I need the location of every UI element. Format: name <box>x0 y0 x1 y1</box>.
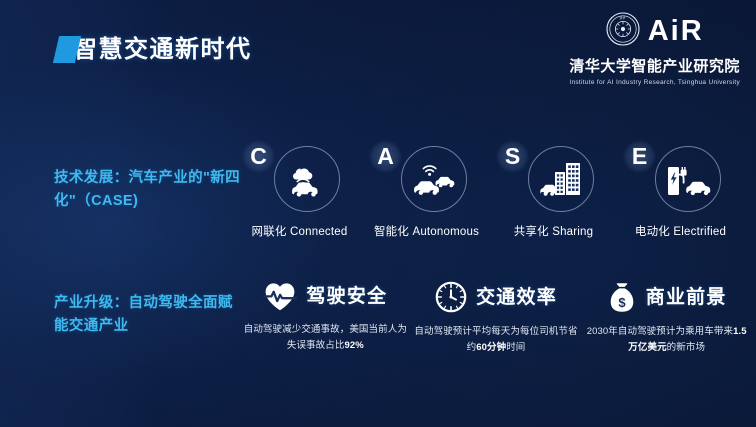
svg-text:$: $ <box>618 295 626 310</box>
clock-icon <box>435 281 467 313</box>
air-logo: 清华 AiR 清华大学智能产业研究院 Institute for AI Indu… <box>569 12 740 86</box>
case-items-row: C 网联化 Connected A <box>236 140 746 239</box>
case-caption: 智能化 Autonomous <box>374 223 479 239</box>
case-item-sharing[interactable]: S <box>490 140 617 239</box>
case-item-autonomous[interactable]: A 智能化 Autonomou <box>363 140 490 239</box>
desc-highlight: 92% <box>344 340 363 351</box>
case-caption: 网联化 Connected <box>252 223 348 239</box>
car-buildings-icon <box>528 146 594 212</box>
logo-wordmark: AiR <box>648 17 704 46</box>
ev-charging-car-icon <box>655 146 721 212</box>
case-letter-badge: E <box>623 140 656 173</box>
desc-before: 自动驾驶减少交通事故，美国当前人为失误事故占比 <box>244 324 407 351</box>
benefit-item-safety[interactable]: 驾驶安全 自动驾驶减少交通事故，美国当前人为失误事故占比92% <box>240 281 411 357</box>
desc-after: 时间 <box>506 342 525 353</box>
slide-canvas: 智慧交通新时代 <box>0 0 756 427</box>
benefit-description: 自动驾驶预计平均每天为每位司机节省约60分钟时间 <box>412 324 580 357</box>
case-item-electrified[interactable]: E 电动化 Electrified <box>617 140 744 239</box>
desc-after: 的新市场 <box>667 342 705 353</box>
page-title: 智慧交通新时代 <box>56 36 252 63</box>
section-label-industry: 产业升级：自动驾驶全面赋能交通产业 <box>54 292 244 339</box>
case-letter-badge: A <box>369 140 402 173</box>
logo-top-row: 清华 AiR <box>606 12 704 51</box>
section-label-case: 技术发展：汽车产业的"新四化"（CASE) <box>54 167 244 214</box>
benefit-description: 2030年自动驾驶预计为乘用车带来1.5万亿美元的新市场 <box>583 324 751 357</box>
benefit-head: 交通效率 <box>435 281 557 313</box>
case-letter-badge: C <box>242 140 275 173</box>
desc-before: 2030年自动驾驶预计为乘用车带来 <box>587 326 733 337</box>
case-caption: 共享化 Sharing <box>514 223 594 239</box>
connected-car-cloud-icon <box>274 146 340 212</box>
benefit-title: 驾驶安全 <box>306 287 387 306</box>
case-letter-badge: S <box>496 140 529 173</box>
case-item-connected[interactable]: C 网联化 Connected <box>236 140 363 239</box>
case-caption: 电动化 Electrified <box>635 223 726 239</box>
money-bag-icon: $ <box>607 281 637 313</box>
heart-pulse-icon <box>263 281 297 311</box>
benefit-item-market[interactable]: $ 商业前景 2030年自动驾驶预计为乘用车带来1.5万亿美元的新市场 <box>581 281 752 357</box>
desc-highlight: 60分钟 <box>476 342 506 353</box>
benefit-item-efficiency[interactable]: 交通效率 自动驾驶预计平均每天为每位司机节省约60分钟时间 <box>411 281 582 357</box>
benefit-title: 商业前景 <box>646 288 727 307</box>
benefit-head: 驾驶安全 <box>263 281 387 311</box>
title-text: 智慧交通新时代 <box>73 38 252 62</box>
benefit-description: 自动驾驶减少交通事故，美国当前人为失误事故占比92% <box>241 322 409 355</box>
benefit-items-row: 驾驶安全 自动驾驶减少交通事故，美国当前人为失误事故占比92% <box>240 281 752 357</box>
benefit-title: 交通效率 <box>476 288 557 307</box>
autonomous-cars-wifi-icon <box>401 146 467 212</box>
logo-english-name: Institute for AI Industry Research, Tsin… <box>569 79 740 86</box>
logo-chinese-name: 清华大学智能产业研究院 <box>569 55 740 76</box>
tsinghua-seal-icon: 清华 <box>606 12 640 51</box>
benefit-head: $ 商业前景 <box>607 281 727 313</box>
svg-text:清华: 清华 <box>619 15 625 20</box>
